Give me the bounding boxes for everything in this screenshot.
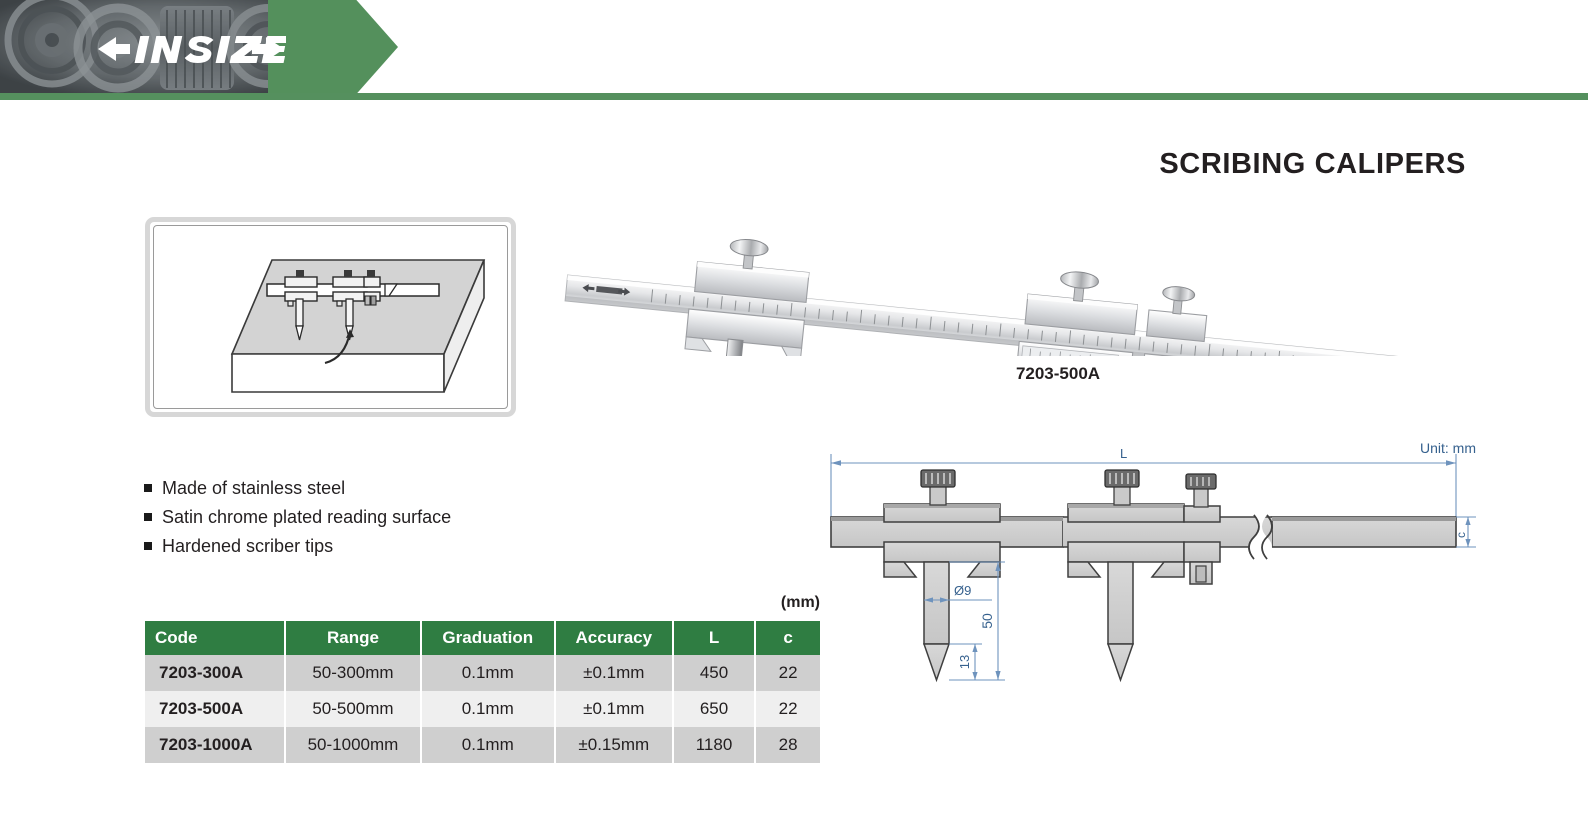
column-header-graduation: Graduation [421, 621, 555, 655]
column-header-accuracy: Accuracy [555, 621, 673, 655]
column-header-l: L [673, 621, 755, 655]
cell-range: 50-500mm [285, 691, 420, 727]
cell-c: 22 [755, 655, 820, 691]
table-unit-note: (mm) [620, 594, 820, 612]
insize-logo [96, 28, 286, 70]
application-diagram-scribing-arc [153, 225, 508, 409]
unit-label: Unit: mm [1420, 440, 1476, 456]
cell-l: 1180 [673, 727, 755, 763]
table-row: 7203-500A 50-500mm 0.1mm ±0.1mm 650 22 [145, 691, 820, 727]
page-title: SCRIBING CALIPERS [1159, 148, 1466, 181]
header-green-rule [0, 93, 1588, 100]
cell-range: 50-1000mm [285, 727, 420, 763]
table-row: 7203-1000A 50-1000mm 0.1mm ±0.15mm 1180 … [145, 727, 820, 763]
square-bullet-icon [144, 484, 152, 492]
dimension-label-diameter: Ø9 [954, 583, 971, 598]
cell-accuracy: ±0.1mm [555, 655, 673, 691]
table-header-row: Code Range Graduation Accuracy L c [145, 621, 820, 655]
cell-l: 650 [673, 691, 755, 727]
square-bullet-icon [144, 513, 152, 521]
list-item: Hardened scriber tips [144, 534, 614, 559]
list-item: Made of stainless steel [144, 476, 614, 501]
dimension-label-L: L [1120, 446, 1127, 461]
product-model-caption: 7203-500A [958, 364, 1158, 384]
cell-c: 28 [755, 727, 820, 763]
dimension-label-c: c [1454, 532, 1468, 538]
cell-code: 7203-300A [145, 655, 285, 691]
cell-range: 50-300mm [285, 655, 420, 691]
cell-graduation: 0.1mm [421, 727, 555, 763]
banner-green-chevron [268, 0, 398, 94]
column-header-range: Range [285, 621, 420, 655]
column-header-code: Code [145, 621, 285, 655]
header-banner [0, 0, 1588, 94]
cell-c: 22 [755, 691, 820, 727]
cell-graduation: 0.1mm [421, 691, 555, 727]
cell-graduation: 0.1mm [421, 655, 555, 691]
scribing-caliper-photo [556, 196, 1456, 356]
column-header-c: c [755, 621, 820, 655]
cell-accuracy: ±0.15mm [555, 727, 673, 763]
cell-code: 7203-1000A [145, 727, 285, 763]
cell-l: 450 [673, 655, 755, 691]
feature-text: Satin chrome plated reading surface [162, 505, 451, 530]
square-bullet-icon [144, 542, 152, 550]
dimension-drawing: Unit: mm L [820, 432, 1480, 694]
list-item: Satin chrome plated reading surface [144, 505, 614, 530]
features-list: Made of stainless steel Satin chrome pla… [144, 476, 614, 563]
table-row: 7203-300A 50-300mm 0.1mm ±0.1mm 450 22 [145, 655, 820, 691]
dimension-label-tip-length: 13 [957, 655, 972, 669]
feature-text: Made of stainless steel [162, 476, 345, 501]
specification-table: Code Range Graduation Accuracy L c 7203-… [145, 621, 820, 763]
application-illustration-box [145, 217, 516, 417]
feature-text: Hardened scriber tips [162, 534, 333, 559]
cell-accuracy: ±0.1mm [555, 691, 673, 727]
cell-code: 7203-500A [145, 691, 285, 727]
dimension-label-scriber-length: 50 [979, 613, 995, 629]
